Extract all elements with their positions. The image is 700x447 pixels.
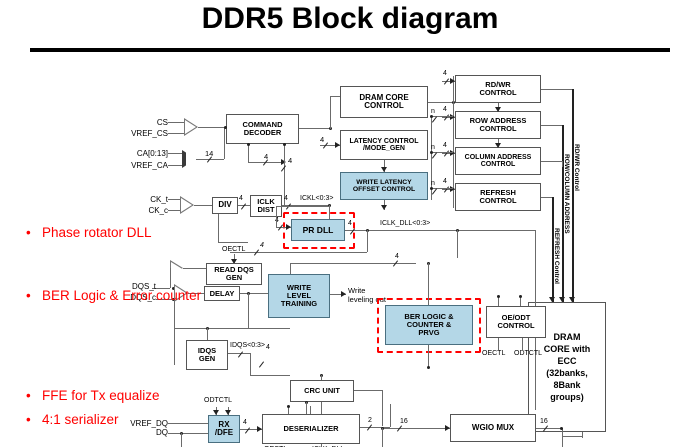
- wire-deser-up: [390, 404, 391, 427]
- wire-dq: [168, 433, 208, 434]
- bus-width-row: 4: [443, 106, 447, 113]
- junction: [560, 427, 563, 430]
- annotation-text: Phase rotator DLL: [42, 225, 152, 240]
- signal-cs: CS: [110, 118, 168, 127]
- arrow: [381, 205, 387, 210]
- arrow: [225, 410, 231, 415]
- junction: [497, 295, 500, 298]
- block-rx-dfe[interactable]: RX /DFE: [208, 415, 240, 443]
- wire-crc-down: [382, 390, 383, 426]
- wire-delay-down: [248, 293, 249, 329]
- wire-wgio-out: [536, 428, 562, 429]
- bus-width-4c: 4: [320, 135, 324, 144]
- arrow: [450, 186, 455, 192]
- bus-width-idqs: 4: [266, 344, 270, 351]
- wire-prdll-feed-h: [276, 206, 330, 207]
- junction: [427, 366, 430, 369]
- wire-crc-in: [321, 375, 322, 380]
- wire-rdwr-out: [541, 89, 573, 90]
- junction: [287, 405, 290, 408]
- bus-width-wgio-out: 16: [540, 418, 548, 425]
- junction: [283, 143, 286, 146]
- arrow: [286, 224, 291, 230]
- block-div[interactable]: DIV: [212, 197, 238, 214]
- block-read-dqs-gen[interactable]: READ DQS GEN: [206, 263, 262, 285]
- wire-iclkdll-down: [457, 230, 458, 258]
- wire-odtctl-out: [522, 338, 523, 350]
- arrow: [450, 150, 455, 156]
- bus-width-wlt: 4: [395, 253, 399, 260]
- bus-slash: [259, 361, 264, 367]
- bus-width-n-ref: n: [431, 180, 435, 187]
- wire-ck-t: [168, 199, 180, 200]
- wire-div-down: [218, 214, 219, 242]
- junction: [430, 187, 433, 190]
- wire-ca-up: [224, 127, 225, 159]
- signal-odtctl-oeodt: ODTCTL: [514, 350, 542, 357]
- wire-gio-bus: [382, 428, 383, 447]
- wire-core-connect: [562, 436, 582, 437]
- arrow: [341, 291, 346, 297]
- wire-vref-ca: [168, 165, 182, 166]
- bus-width-n-row: n: [431, 108, 435, 115]
- annotation-text: 4:1 serializer: [42, 412, 119, 427]
- bullet-marker: •: [26, 288, 42, 303]
- junction: [430, 151, 433, 154]
- block-dram-core-control[interactable]: DRAM CORE CONTROL: [340, 86, 428, 118]
- wire-wgio-in: [382, 428, 450, 429]
- block-write-level-training[interactable]: WRITE LEVEL TRAINING: [268, 274, 330, 318]
- annotation-ber-logic-error-counter: •BER Logic & Error counter: [26, 288, 201, 303]
- dqs-out-buffer-inner: [171, 262, 184, 278]
- junction: [247, 143, 250, 146]
- wire-wlt-top-h: [290, 263, 416, 264]
- wire-deser-in-b: [310, 406, 311, 414]
- bus-width-n-col: n: [431, 144, 435, 151]
- signal-iclk-dll-0-3: ICLK_DLL<0:3>: [380, 220, 430, 227]
- arrow: [450, 114, 455, 120]
- arrow: [495, 143, 501, 148]
- bullet-marker: •: [26, 388, 42, 403]
- bus-width-col: 4: [443, 142, 447, 149]
- wire-dcc-out: [428, 102, 454, 103]
- bus-width-rx: 4: [243, 419, 247, 426]
- block-idqs-gen[interactable]: IDQS GEN: [186, 340, 228, 370]
- block-wgio-mux[interactable]: WGIO MUX: [450, 414, 536, 442]
- wire-decoder-down-a: [248, 144, 249, 162]
- signal-ck-c: CK_c: [120, 206, 168, 215]
- wire-vref-cs: [168, 133, 184, 134]
- arrow: [495, 107, 501, 112]
- signal-odtctl-rx: ODTCTL: [204, 397, 232, 404]
- arrow: [450, 78, 455, 84]
- signal-oectl-read: OECTL: [222, 246, 245, 253]
- annotation-text: FFE for Tx equalize: [42, 388, 160, 403]
- block-column-address-control[interactable]: COLUMN ADDRESS CONTROL: [455, 147, 541, 175]
- arrow: [381, 167, 387, 172]
- wire-ca: [168, 153, 182, 154]
- bus-width-rdwr: 4: [443, 70, 447, 77]
- wire-cs: [168, 122, 184, 123]
- title-divider: [30, 48, 670, 52]
- wire-vref-dq: [168, 423, 208, 424]
- wire-decoder-out: [299, 128, 331, 129]
- wire-dqs-to-idqs: [174, 328, 290, 329]
- block-oe-odt-control[interactable]: OE/ODT CONTROL: [486, 306, 546, 338]
- block-rdwr-control[interactable]: RD/WR CONTROL: [455, 75, 541, 103]
- wire-oectl-out: [498, 338, 499, 350]
- block-command-decoder[interactable]: COMMAND DECODER: [226, 114, 299, 144]
- cs-buffer-inner: [185, 120, 196, 134]
- wire-cs-to-decoder: [198, 127, 226, 128]
- wire-dqsgen-to-buf: [183, 268, 206, 269]
- block-refresh-control[interactable]: REFRESH CONTROL: [455, 183, 541, 211]
- bus-width-deser: 2: [368, 417, 372, 424]
- bus-width-ca: 14: [205, 149, 213, 158]
- block-crc-unit[interactable]: CRC UNIT: [290, 380, 354, 402]
- signal-vref-ca: VREF_CA: [90, 161, 168, 170]
- highlight-ber-logic: [377, 298, 481, 353]
- wire-div-lower: [218, 242, 248, 243]
- bus-width-div: 4: [239, 195, 243, 202]
- wire-dqs-buf-down: [170, 268, 171, 288]
- wire-crc-out: [354, 390, 382, 391]
- bullet-marker: •: [26, 225, 42, 240]
- wire-ck-to-div: [194, 205, 212, 206]
- wire-delay-out: [240, 293, 268, 294]
- vlabel-row-column-address: ROW/COLUMN ADDRESS: [563, 154, 570, 234]
- bus-width-wgio-in: 16: [400, 418, 408, 425]
- wire-col-out: [541, 161, 563, 162]
- junction: [519, 295, 522, 298]
- signal-oectl-oeodt: OECTL: [482, 350, 505, 357]
- wire-ber-in: [428, 263, 429, 305]
- block-row-address-control[interactable]: ROW ADDRESS CONTROL: [455, 111, 541, 139]
- bus-width-ref: 4: [443, 178, 447, 185]
- signal-idqs-0-3: IDQS<0:3>: [230, 342, 265, 349]
- bus-width-prdll-out: 4: [348, 220, 352, 227]
- block-write-latency-offset-control[interactable]: WRITE LATENCY OFFSET CONTROL: [340, 172, 428, 200]
- signal-ck-t: CK_t: [120, 195, 168, 204]
- wire-gio-to-core: [562, 428, 563, 447]
- signal-vref-cs: VREF_CS: [96, 129, 168, 138]
- wire-decoder-up: [330, 96, 331, 129]
- annotation-phase-rotator-dll: •Phase rotator DLL: [26, 225, 152, 240]
- slide-page: DDR5 Block diagram CS VREF_CS CA[0:13] V…: [0, 0, 700, 447]
- page-title: DDR5 Block diagram: [0, 2, 700, 36]
- junction: [224, 126, 227, 129]
- bus-width-prdll-fb: 4: [260, 242, 264, 249]
- wire-idqs-h: [250, 375, 290, 376]
- wire-idqs-in: [207, 328, 208, 340]
- wire-core-up: [582, 432, 583, 438]
- wire-prdll-out: [345, 230, 535, 231]
- annotation-4-1-serializer: •4:1 serializer: [26, 412, 119, 427]
- ck-buffer-inner: [181, 198, 192, 212]
- wire-ber-out: [428, 345, 429, 367]
- bus-rdwr-control: [572, 89, 574, 302]
- wire-iclkdll-mid: [367, 230, 368, 252]
- vlabel-rdwr-control: RD/WR Control: [573, 144, 580, 191]
- block-deserializer[interactable]: DESERIALIZER: [262, 414, 360, 444]
- annotation-ffe-tx-equalize: •FFE for Tx equalize: [26, 388, 160, 403]
- annotation-text: BER Logic & Error counter: [42, 288, 201, 303]
- signal-ickl-0-3: ICKL<0:3>: [300, 195, 333, 202]
- wire-idqs-down: [250, 353, 251, 375]
- wire-dqs-down: [174, 299, 175, 365]
- bus-width-iclk: 4: [284, 195, 288, 202]
- bus-width-4b: 4: [288, 156, 292, 165]
- signal-dq: DQ: [112, 428, 168, 437]
- signal-ca: CA[0:13]: [88, 149, 168, 158]
- wire-ck-c: [168, 210, 180, 211]
- wire-wlt-top: [290, 263, 291, 274]
- arrow: [213, 410, 219, 415]
- wire-prdll-feed: [276, 206, 277, 228]
- vlabel-refresh-control: REFRESH Control: [553, 228, 560, 284]
- wire-iclkdll-back: [230, 252, 367, 253]
- arrow: [335, 142, 340, 148]
- wire-row-out: [541, 125, 563, 126]
- wire-dq-down: [181, 433, 182, 447]
- junction: [430, 115, 433, 118]
- bullet-marker: •: [26, 412, 42, 427]
- block-latency-control[interactable]: LATENCY CONTROL /MODE_GEN: [340, 130, 428, 160]
- block-delay[interactable]: DELAY: [204, 286, 240, 301]
- arrow: [445, 425, 450, 431]
